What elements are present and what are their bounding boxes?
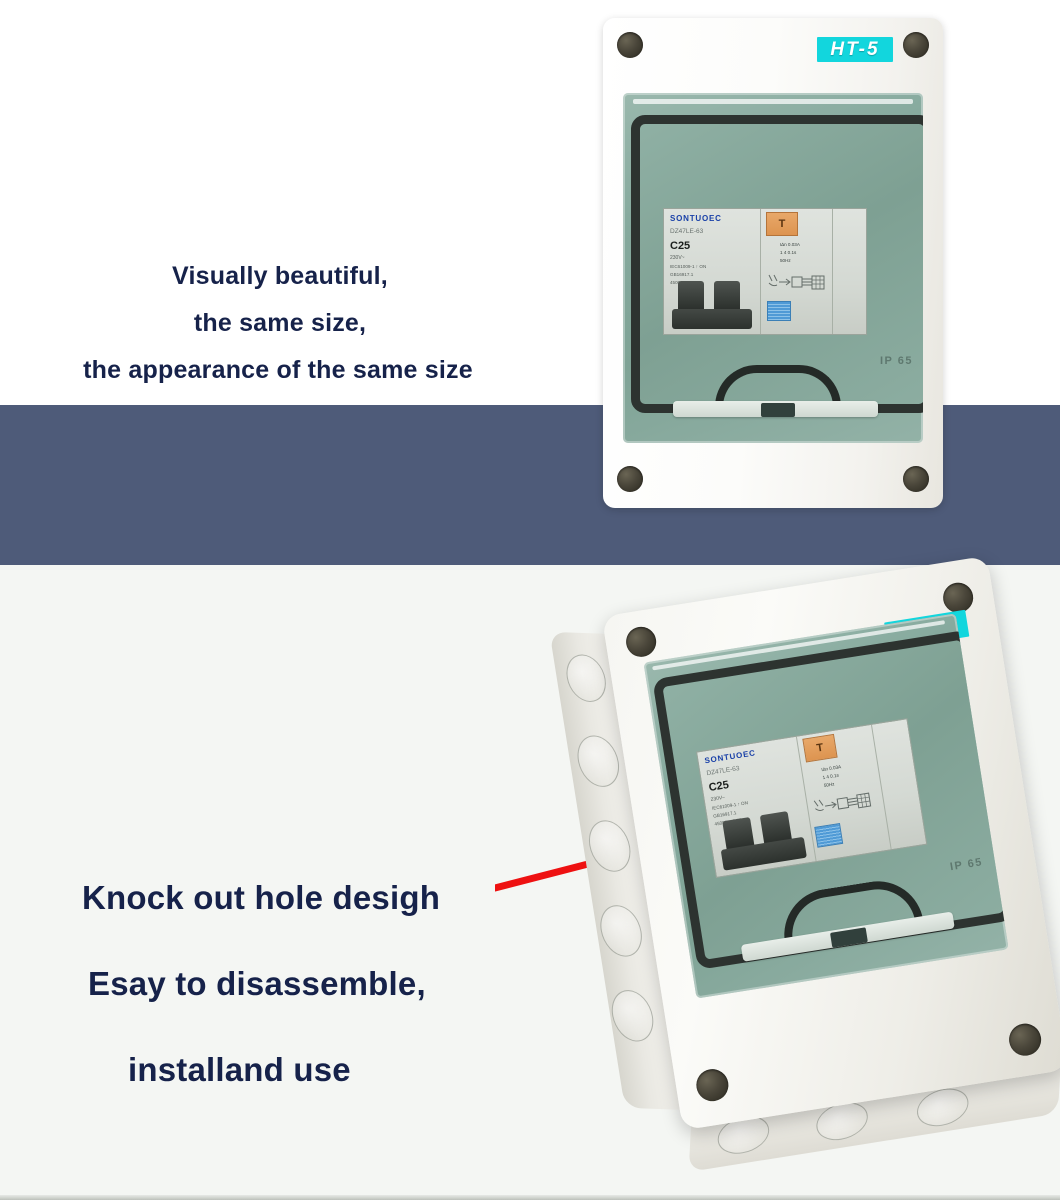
product-marketing-page: Visually beautiful, the same size, the a… bbox=[0, 0, 1060, 1200]
indicator-chip bbox=[767, 301, 791, 321]
screw-hole-top-left bbox=[617, 32, 643, 58]
bottom-headline: Knock out hole desigh Esay to disassembl… bbox=[40, 855, 560, 1113]
breaker-brand-angled: SONTUOEC bbox=[704, 748, 757, 765]
door-highlight bbox=[633, 99, 913, 104]
breaker-voltage-angled: 230V~ bbox=[710, 795, 726, 804]
screw-hole-bottom-right bbox=[903, 466, 929, 492]
test-button-angled[interactable]: T bbox=[802, 734, 837, 763]
breaker-brand: SONTUOEC bbox=[670, 214, 722, 223]
knockout-hole-1 bbox=[563, 654, 609, 703]
top-headline-line-2: the same size, bbox=[30, 300, 530, 347]
breaker-right-3-angled: 50Hz bbox=[823, 781, 835, 789]
product-photo-front: HT-5 SONTUOEC DZ47LE-63 C25 230V~ IEC610… bbox=[603, 18, 943, 508]
top-headline-line-3: the appearance of the same size bbox=[26, 347, 530, 394]
breaker-spec-2: GB16917.1 bbox=[670, 272, 693, 279]
ht5-label: HT-5 bbox=[817, 37, 893, 62]
product-photo-angled: HT-5 SONTUOEC DZ47LE-63 C25 230V~ IEC610… bbox=[602, 556, 1060, 1131]
breaker-right-1: I∆n 0.03A bbox=[780, 242, 800, 249]
transparent-door[interactable]: SONTUOEC DZ47LE-63 C25 230V~ IEC61009-1 … bbox=[623, 93, 923, 443]
page-bottom-edge bbox=[0, 1195, 1060, 1200]
top-headline: Visually beautiful, the same size, the a… bbox=[30, 253, 530, 394]
knockout-hole-5 bbox=[608, 989, 657, 1042]
ip-rating-text: IP 65 bbox=[880, 355, 913, 367]
bottom-headline-line-2: Esay to disassemble, bbox=[40, 941, 560, 1027]
wiring-diagram-icon bbox=[766, 271, 828, 297]
test-button[interactable]: T bbox=[766, 212, 798, 236]
knockout-hole-2 bbox=[574, 735, 623, 788]
breaker-divider-2 bbox=[832, 209, 833, 334]
breaker-toggle-bar[interactable] bbox=[672, 309, 752, 329]
breaker-rating-angled: C25 bbox=[708, 779, 730, 794]
circuit-breaker: SONTUOEC DZ47LE-63 C25 230V~ IEC61009-1 … bbox=[663, 208, 867, 335]
breaker-spec-1: IEC61009-1 ↑ ON bbox=[670, 264, 706, 271]
indicator-chip-angled bbox=[814, 823, 843, 848]
bottom-headline-line-1: Knock out hole desigh bbox=[40, 855, 560, 941]
breaker-rating: C25 bbox=[670, 240, 690, 252]
breaker-voltage: 230V~ bbox=[670, 255, 685, 262]
knockout-hole-3 bbox=[585, 820, 634, 873]
breaker-divider bbox=[760, 209, 761, 334]
breaker-right-2-angled: 1 4 0.1s bbox=[822, 773, 839, 782]
screw-hole-bottom-left bbox=[617, 466, 643, 492]
breaker-divider-2-angled bbox=[871, 725, 892, 850]
breaker-right-2: 1 4 0.1s bbox=[780, 250, 796, 257]
breaker-model-angled: DZ47LE-63 bbox=[706, 765, 740, 777]
screw-hole-top-right bbox=[903, 32, 929, 58]
wiring-diagram-icon-angled bbox=[810, 787, 877, 823]
knockout-hole-4 bbox=[597, 905, 646, 958]
bottom-headline-line-3: installand use bbox=[40, 1027, 560, 1113]
latch-keyhole[interactable] bbox=[761, 403, 795, 417]
breaker-right-3: 50Hz bbox=[780, 258, 791, 265]
top-headline-line-1: Visually beautiful, bbox=[30, 253, 530, 300]
transparent-door-angled[interactable]: SONTUOEC DZ47LE-63 C25 230V~ IEC61009-1 … bbox=[643, 613, 1008, 998]
breaker-model: DZ47LE-63 bbox=[670, 228, 703, 235]
